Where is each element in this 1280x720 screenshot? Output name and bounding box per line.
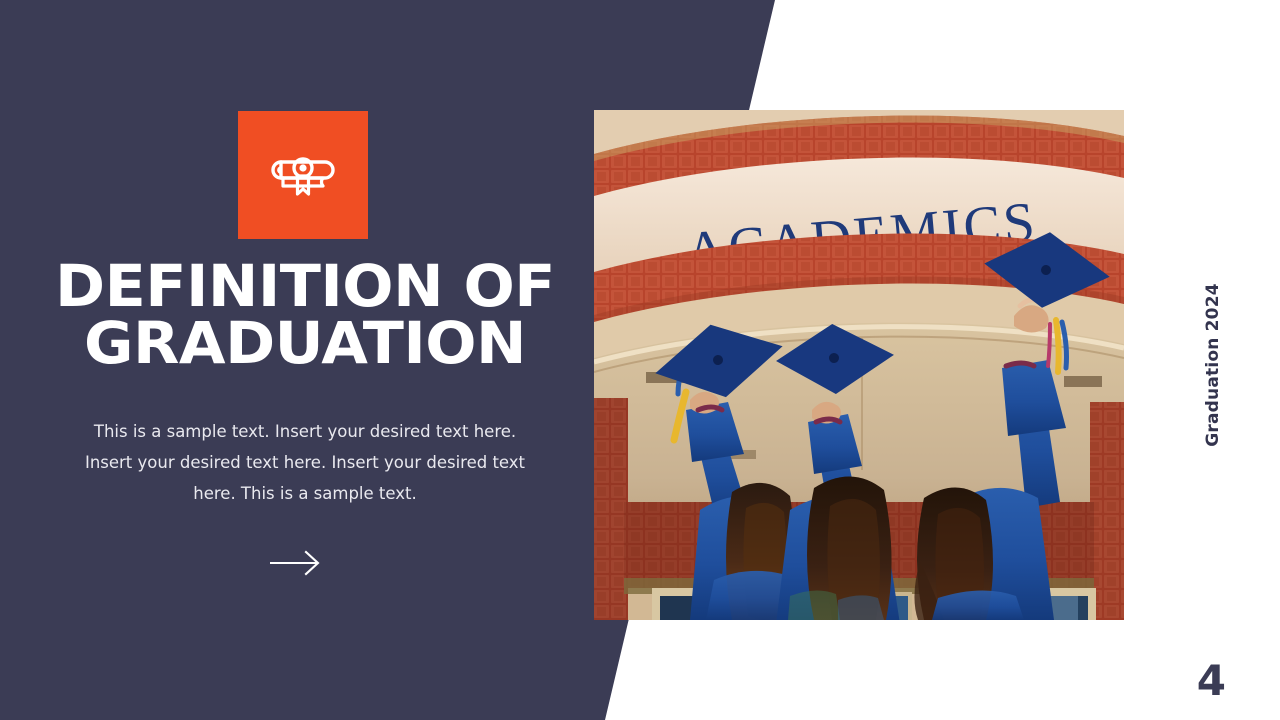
slide-canvas: Definition of Graduation This is a sampl…	[0, 0, 1280, 720]
vertical-deck-label: Graduation 2024	[1196, 265, 1230, 465]
graduation-photo: ACADEMICS	[594, 110, 1124, 620]
next-arrow-button[interactable]	[262, 545, 328, 585]
page-title: Definition of Graduation	[29, 258, 580, 372]
page-number: 4	[1197, 660, 1226, 702]
diploma-scroll-icon	[267, 146, 339, 204]
icon-tile	[238, 111, 368, 239]
arrow-right-icon	[268, 550, 322, 581]
body-paragraph: This is a sample text. Insert your desir…	[80, 417, 530, 510]
photo-artwork: ACADEMICS	[594, 110, 1124, 620]
